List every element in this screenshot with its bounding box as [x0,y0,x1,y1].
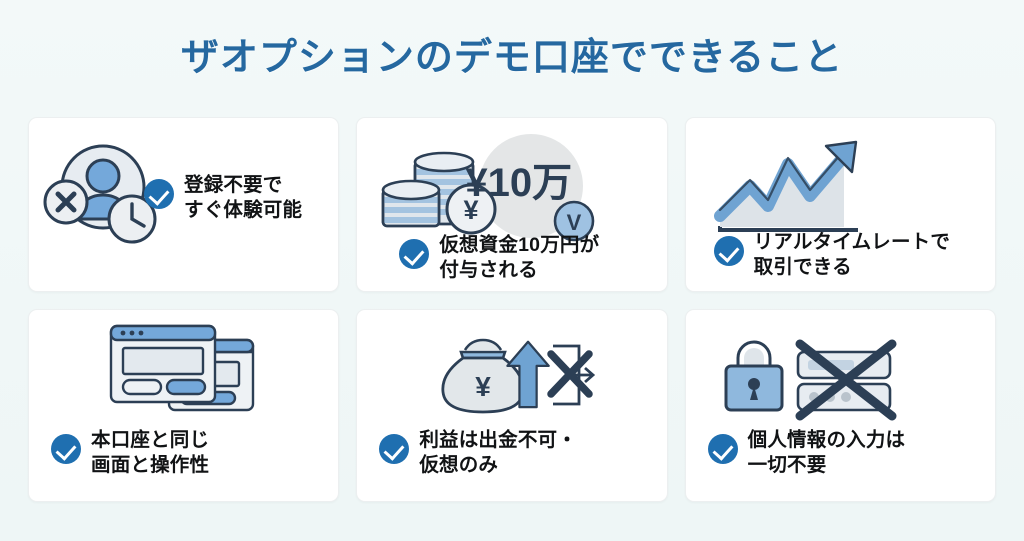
feature-caption: 個人情報の入力は 一切不要 [708,428,906,479]
page-title: ザオプションのデモ口座でできること [0,0,1024,80]
check-circle-icon [51,434,81,464]
feature-text: リアルタイムレートで 取引できる [754,230,950,281]
feature-caption: 登録不要で すぐ体験可能 [144,173,302,224]
feature-card-same-screen[interactable]: 本口座と同じ 画面と操作性 [28,309,339,502]
check-circle-icon [714,236,744,266]
svg-text:¥: ¥ [476,371,492,402]
feature-card-no-personal-info[interactable]: 個人情報の入力は 一切不要 [685,309,996,502]
check-circle-icon [144,179,174,209]
feature-card-no-registration[interactable]: 登録不要で すぐ体験可能 [28,117,339,292]
feature-text: 本口座と同じ 画面と操作性 [91,428,209,479]
check-circle-icon [399,239,429,269]
check-circle-icon [379,434,409,464]
feature-card-virtual-funds[interactable]: ¥ ¥10万 V 仮想資金10万円が 付与される [356,117,667,292]
browser-windows-icon [105,322,265,422]
feature-text: 個人情報の入力は 一切不要 [748,428,906,479]
amount-text: ¥10万 [465,161,572,205]
feature-card-no-withdrawal[interactable]: ¥ 利益は出金不可・ 仮想のみ [356,309,667,502]
feature-card-grid: 登録不要で すぐ体験可能 [28,117,996,502]
money-bag-no-withdrawal-icon: ¥ [435,328,595,420]
infographic-page: ザオプションのデモ口座でできること [0,0,1024,541]
lock-no-server-icon [716,328,896,418]
feature-card-realtime-rate[interactable]: リアルタイムレートで 取引できる [685,117,996,292]
feature-caption: 仮想資金10万円が 付与される [399,233,599,284]
rising-chart-arrow-icon [706,134,866,236]
feature-text: 登録不要で すぐ体験可能 [184,173,302,224]
feature-caption: リアルタイムレートで 取引できる [714,230,950,281]
check-circle-icon [708,434,738,464]
svg-text:V: V [567,210,582,235]
feature-text: 利益は出金不可・ 仮想のみ [419,428,577,479]
feature-caption: 利益は出金不可・ 仮想のみ [379,428,577,479]
feature-text: 仮想資金10万円が 付与される [439,233,599,284]
amount-label: ¥10万 [465,150,595,200]
feature-caption: 本口座と同じ 画面と操作性 [51,428,209,479]
